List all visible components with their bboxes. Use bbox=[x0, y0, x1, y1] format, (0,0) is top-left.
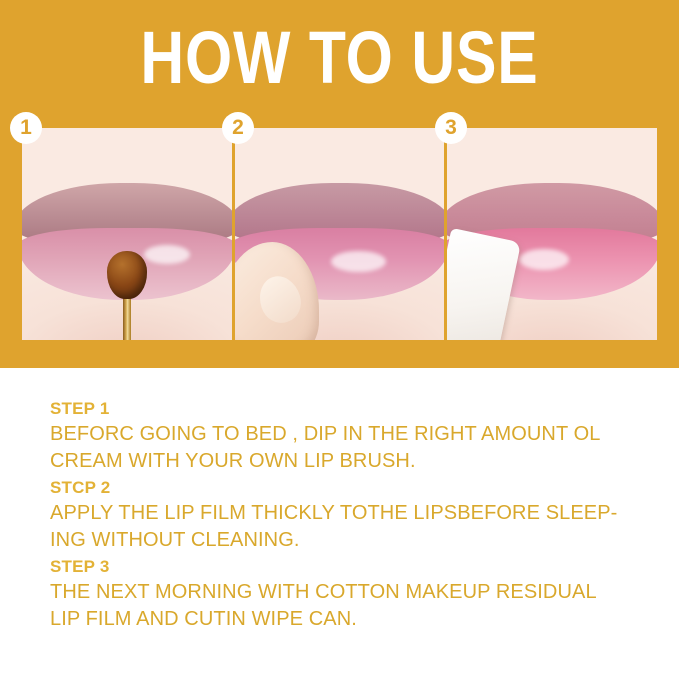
step-badge-2: 2 bbox=[222, 112, 254, 144]
step-photo-3 bbox=[447, 128, 657, 340]
page-title: HOW TO USE bbox=[61, 20, 618, 96]
step-1-label: STEP 1 bbox=[50, 396, 650, 421]
step-badge-1: 1 bbox=[10, 112, 42, 144]
step-1-line-1: BEFORC GOING TO BED , DIP IN THE RIGHT A… bbox=[50, 421, 650, 448]
step-photo-1 bbox=[22, 128, 232, 340]
step-photo-2 bbox=[235, 128, 445, 340]
applicator-head-icon bbox=[107, 251, 147, 299]
photo-strip bbox=[22, 128, 657, 340]
instruction-step-3: STEP 3 THE NEXT MORNING WITH COTTON MAKE… bbox=[50, 554, 650, 633]
instructions-list: STEP 1 BEFORC GOING TO BED , DIP IN THE … bbox=[50, 396, 650, 633]
lip-gloss-highlight bbox=[519, 249, 569, 270]
step-2-line-2: ING WITHOUT CLEANING. bbox=[50, 527, 650, 554]
instruction-step-1: STEP 1 BEFORC GOING TO BED , DIP IN THE … bbox=[50, 396, 650, 475]
lip-gloss-highlight bbox=[144, 245, 190, 264]
step-badge-3: 3 bbox=[435, 112, 467, 144]
step-2-label: STCP 2 bbox=[50, 475, 650, 500]
instruction-step-2: STCP 2 APPLY THE LIP FILM THICKLY TOTHE … bbox=[50, 475, 650, 554]
step-3-line-2: LIP FILM AND CUTIN WIPE CAN. bbox=[50, 606, 650, 633]
lip-gloss-highlight bbox=[331, 251, 386, 272]
gold-banner: HOW TO USE bbox=[0, 0, 679, 368]
step-1-line-2: CREAM WITH YOUR OWN LIP BRUSH. bbox=[50, 448, 650, 475]
applicator-handle bbox=[123, 295, 131, 340]
step-2-line-1: APPLY THE LIP FILM THICKLY TOTHE LIPSBEF… bbox=[50, 500, 650, 527]
step-3-line-1: THE NEXT MORNING WITH COTTON MAKEUP RESI… bbox=[50, 579, 650, 606]
how-to-use-infographic: HOW TO USE bbox=[0, 0, 679, 679]
step-3-label: STEP 3 bbox=[50, 554, 650, 579]
